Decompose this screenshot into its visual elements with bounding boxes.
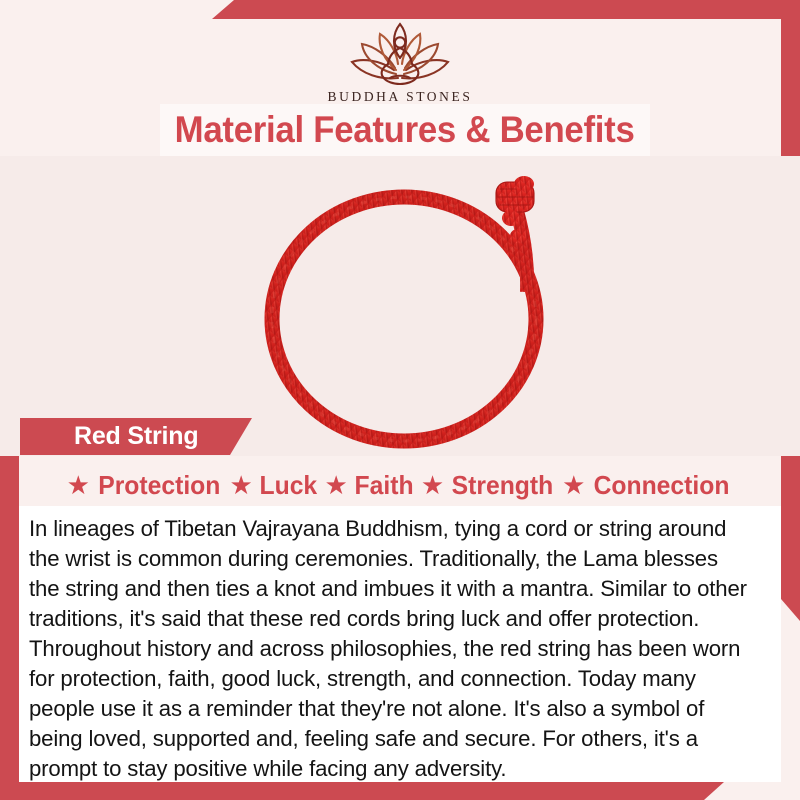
benefit-item-protection: ★ Protection [67, 470, 224, 501]
page-title-band: Material Features & Benefits [160, 104, 650, 156]
benefit-item-luck: ★ Luck [229, 470, 318, 501]
lotus-meditation-icon [336, 18, 464, 86]
bottom-accent-bar [0, 782, 724, 800]
hero-section [0, 156, 800, 456]
benefit-label: Faith [354, 470, 413, 501]
product-label: Red String [74, 422, 198, 451]
benefit-item-faith: ★ Faith [324, 470, 414, 501]
brand-logo: BUDDHA STONES [0, 18, 800, 105]
description-panel: In lineages of Tibetan Vajrayana Buddhis… [19, 506, 781, 782]
description-text: In lineages of Tibetan Vajrayana Buddhis… [29, 514, 754, 784]
red-string-bracelet-image [228, 156, 608, 456]
star-icon: ★ [324, 472, 347, 498]
benefit-item-connection: ★ Connection [562, 470, 733, 501]
benefits-row: ★ Protection ★ Luck ★ Faith ★ Strength ★… [0, 465, 800, 505]
page-title: Material Features & Benefits [175, 109, 635, 151]
brand-name: BUDDHA STONES [328, 89, 473, 105]
star-icon: ★ [562, 472, 585, 498]
benefit-label: Protection [98, 470, 220, 501]
infographic-poster: BUDDHA STONES Material Features & Benefi… [0, 0, 800, 800]
benefit-label: Luck [259, 470, 317, 501]
star-icon: ★ [421, 472, 444, 498]
benefit-label: Strength [452, 470, 554, 501]
benefit-label: Connection [594, 470, 730, 501]
star-icon: ★ [229, 472, 252, 498]
star-icon: ★ [67, 472, 90, 498]
benefit-item-strength: ★ Strength [421, 470, 556, 501]
product-label-ribbon: Red String [20, 418, 252, 455]
top-accent-bar [212, 0, 800, 19]
